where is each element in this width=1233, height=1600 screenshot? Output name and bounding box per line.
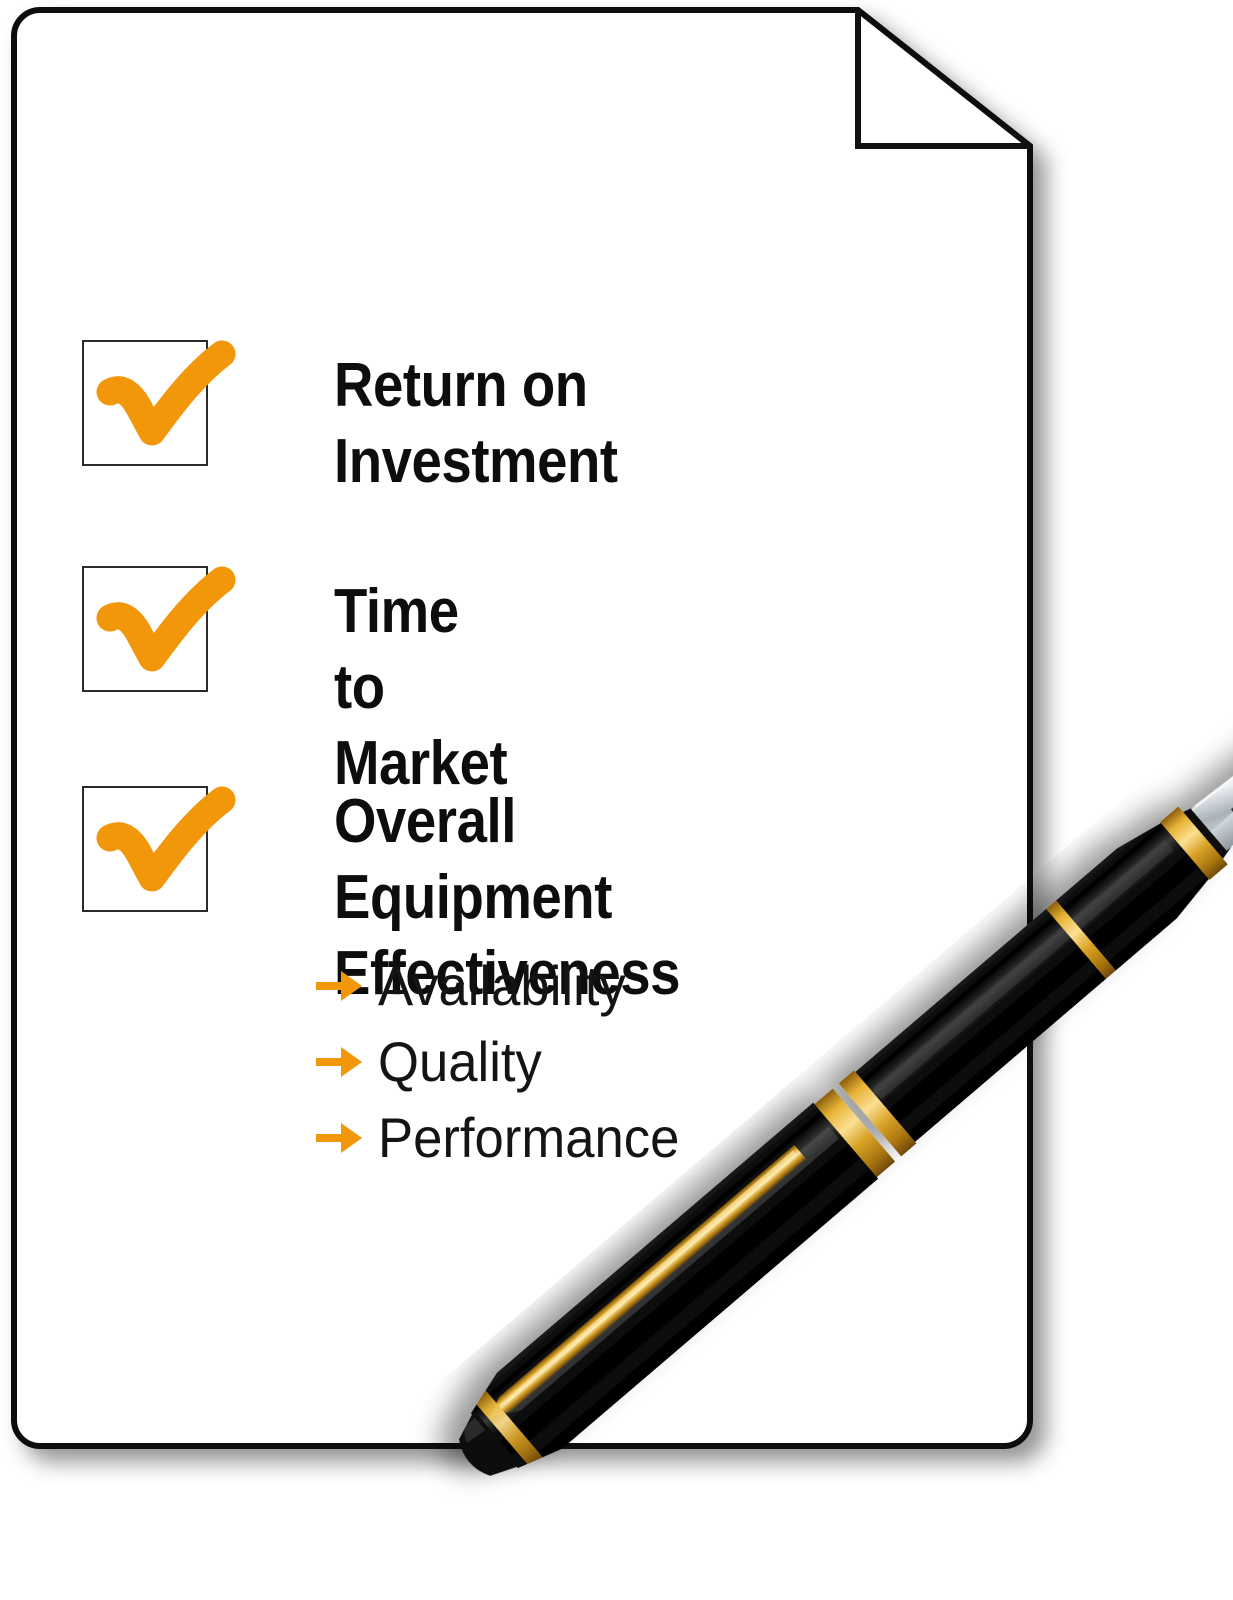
arrow-right-icon bbox=[314, 1042, 364, 1082]
arrow-right-icon bbox=[314, 966, 364, 1006]
pen-nib-collar-ring bbox=[1160, 807, 1228, 880]
check-icon bbox=[68, 320, 248, 470]
checkbox-unit[interactable] bbox=[68, 320, 228, 470]
sub-item-availability[interactable]: Availability bbox=[314, 948, 914, 1024]
illustration-canvas: Return on Investment Time to Market bbox=[0, 0, 1233, 1600]
sub-item-performance[interactable]: Performance bbox=[314, 1100, 914, 1176]
check-icon bbox=[68, 546, 248, 696]
sub-item-label: Availability bbox=[378, 956, 626, 1016]
sub-item-label: Performance bbox=[378, 1108, 679, 1168]
checklist-item-label: Time to Market bbox=[334, 574, 507, 802]
sub-item-quality[interactable]: Quality bbox=[314, 1024, 914, 1100]
pen-nib bbox=[1192, 682, 1233, 850]
arrow-right-icon bbox=[314, 1118, 364, 1158]
checkbox-unit[interactable] bbox=[68, 546, 228, 696]
sub-item-list: Availability Quality Performance bbox=[314, 948, 914, 1176]
pen-section-tip bbox=[1164, 799, 1233, 876]
checklist: Return on Investment Time to Market bbox=[14, 8, 1046, 1448]
document-sheet: Return on Investment Time to Market bbox=[14, 8, 1046, 1448]
pen-section-taper bbox=[1117, 813, 1218, 918]
sub-item-label: Quality bbox=[378, 1032, 542, 1092]
checkbox-unit[interactable] bbox=[68, 766, 228, 916]
check-icon bbox=[68, 766, 248, 916]
checklist-item-label: Return on Investment bbox=[334, 348, 618, 500]
